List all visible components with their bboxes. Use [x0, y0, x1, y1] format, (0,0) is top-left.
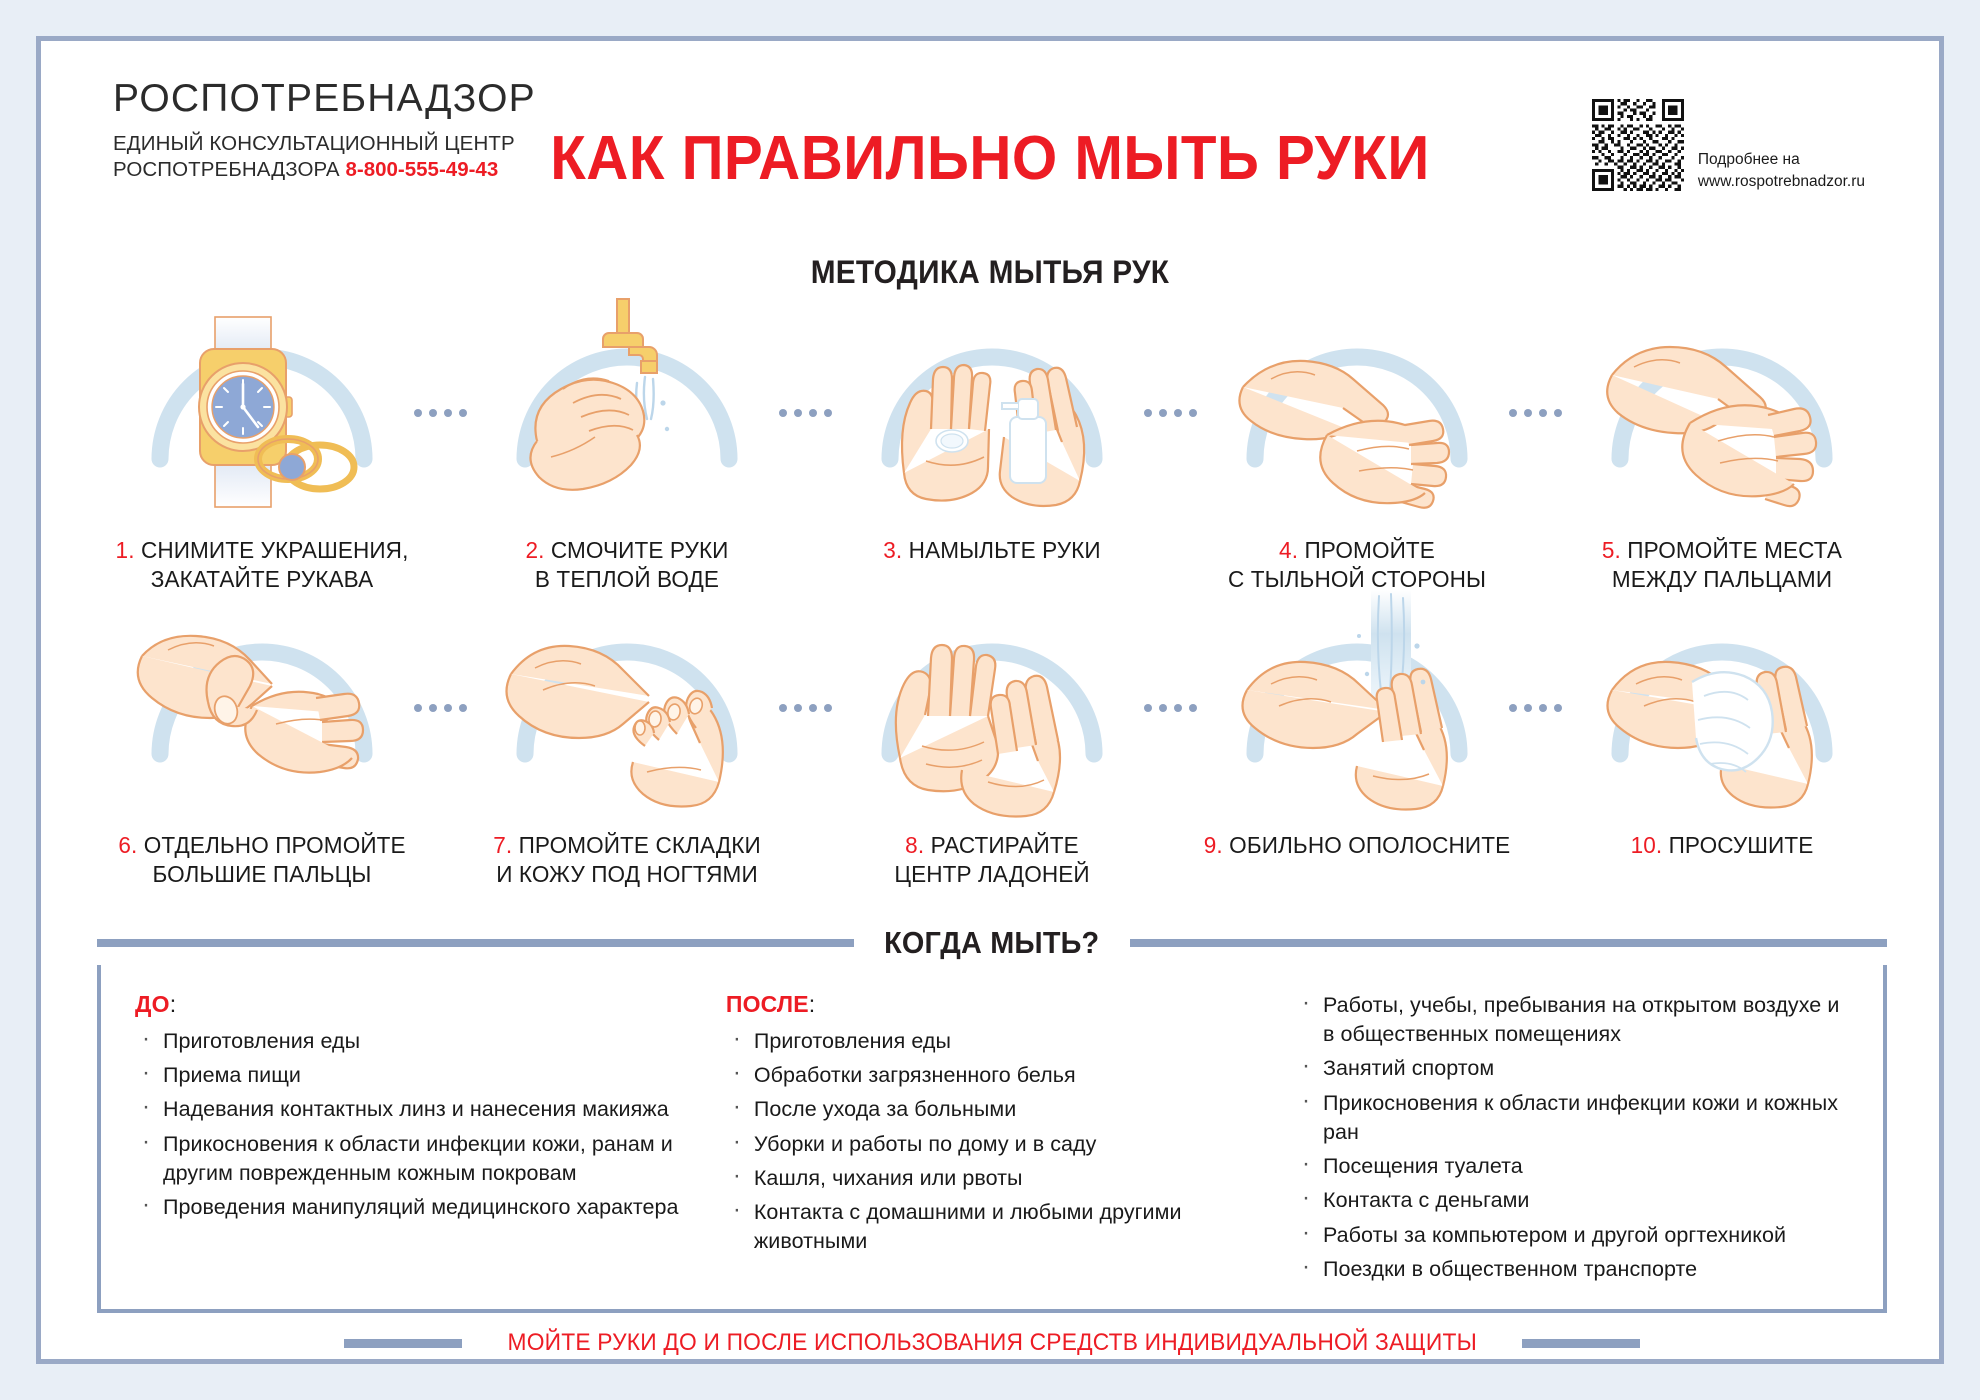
list-item: Прикосновения к области инфекции кожи, р…: [135, 1130, 700, 1188]
hands-under-tap-icon: [477, 291, 777, 526]
step-2-illustration: [462, 291, 792, 526]
step-2-number: 2.: [525, 537, 544, 563]
when-to-wash-section: КОГДА МЫТЬ? ДО: Приготовления еды Приема…: [97, 921, 1887, 1360]
before-column: ДО: Приготовления еды Приема пищи Надева…: [135, 991, 700, 1289]
after-column-continued: Работы, учебы, пребывания на открытом во…: [1295, 991, 1849, 1289]
step-connector-dots-1: [414, 409, 467, 417]
list-item: Поездки в общественном транспорте: [1295, 1255, 1849, 1284]
step-7-caption: 7. ПРОМОЙТЕ СКЛАДКИ И КОЖУ ПОД НОГТЯМИ: [469, 831, 786, 888]
step-6-line2: БОЛЬШИЕ ПАЛЬЦЫ: [152, 861, 371, 887]
step-2[interactable]: 2. СМОЧИТЕ РУКИ В ТЕПЛОЙ ВОДЕ: [462, 291, 792, 593]
header-rule-right: [1130, 939, 1887, 947]
step-3[interactable]: 3. НАМЫЛЬТЕ РУКИ: [827, 291, 1157, 593]
qr-code-icon[interactable]: [1592, 99, 1684, 191]
step-1-number: 1.: [116, 537, 135, 563]
step-9-illustration: [1192, 586, 1522, 821]
list-item: Работы за компьютером и другой оргтехник…: [1295, 1221, 1849, 1250]
footer-rule-left: [344, 1339, 462, 1348]
step-6-line1: ОТДЕЛЬНО ПРОМОЙТЕ: [144, 832, 406, 858]
step-9-number: 9.: [1204, 832, 1223, 858]
step-7[interactable]: 7. ПРОМОЙТЕ СКЛАДКИ И КОЖУ ПОД НОГТЯМИ: [462, 586, 792, 888]
list-item: Приготовления еды: [726, 1027, 1269, 1056]
step-4-caption: 4. ПРОМОЙТЕ С ТЫЛЬНОЙ СТОРОНЫ: [1199, 536, 1516, 593]
list-item: Надевания контактных линз и нанесения ма…: [135, 1095, 700, 1124]
before-label: ДО: [135, 991, 170, 1017]
after-label: ПОСЛЕ: [726, 991, 809, 1017]
step-2-line1: СМОЧИТЕ РУКИ: [551, 537, 729, 563]
step-4-line1: ПРОМОЙТЕ: [1304, 537, 1434, 563]
step-10-number: 10.: [1631, 832, 1663, 858]
before-list: Приготовления еды Приема пищи Надевания …: [135, 1027, 700, 1222]
step-connector-dots-7: [779, 704, 832, 712]
step-3-line1: НАМЫЛЬТЕ РУКИ: [909, 537, 1101, 563]
step-9[interactable]: 9. ОБИЛЬНО ОПОЛОСНИТЕ: [1192, 586, 1522, 888]
step-9-line1: ОБИЛЬНО ОПОЛОСНИТЕ: [1229, 832, 1510, 858]
steps-row-2: 6. ОТДЕЛЬНО ПРОМОЙТЕ БОЛЬШИЕ ПАЛЬЦЫ: [97, 586, 1887, 888]
step-10-line1: ПРОСУШИТЕ: [1669, 832, 1814, 858]
step-10[interactable]: 10. ПРОСУШИТЕ: [1557, 586, 1887, 888]
step-connector-dots-9: [1509, 704, 1562, 712]
list-item: Приема пищи: [135, 1061, 700, 1090]
step-10-caption: 10. ПРОСУШИТЕ: [1564, 831, 1881, 860]
brand-name: РОСПОТРЕБНАДЗОР: [113, 79, 536, 118]
step-4-illustration: [1192, 291, 1522, 526]
list-item: Контакта с домашними и любыми другими жи…: [726, 1198, 1269, 1256]
list-item: После ухода за больными: [726, 1095, 1269, 1124]
qr-caption-line1: Подробнее на: [1698, 149, 1865, 171]
thumb-rub-icon: [112, 586, 412, 821]
step-1-illustration: [97, 291, 427, 526]
soap-dispenser-icon: [842, 291, 1142, 526]
list-item: Обработки загрязненного белья: [726, 1061, 1269, 1090]
step-5-number: 5.: [1602, 537, 1621, 563]
list-item: Работы, учебы, пребывания на открытом во…: [1295, 991, 1849, 1049]
methodology-section-title: МЕТОДИКА МЫТЬЯ РУК: [107, 254, 1872, 291]
qr-caption: Подробнее на www.rospotrebnadzor.ru: [1698, 99, 1865, 194]
when-to-wash-box: ДО: Приготовления еды Приема пищи Надева…: [97, 965, 1887, 1313]
step-connector-dots-4: [1509, 409, 1562, 417]
step-1-line1: СНИМИТЕ УКРАШЕНИЯ,: [141, 537, 408, 563]
step-5[interactable]: 5. ПРОМОЙТЕ МЕСТА МЕЖДУ ПАЛЬЦАМИ: [1557, 291, 1887, 593]
list-item: Посещения туалета: [1295, 1152, 1849, 1181]
step-connector-dots-3: [1144, 409, 1197, 417]
step-4-number: 4.: [1279, 537, 1298, 563]
list-item: Проведения манипуляций медицинского хара…: [135, 1193, 700, 1222]
step-7-number: 7.: [493, 832, 512, 858]
step-1[interactable]: 1. СНИМИТЕ УКРАШЕНИЯ, ЗАКАТАЙТЕ РУКАВА: [97, 291, 427, 593]
step-5-illustration: [1557, 291, 1887, 526]
interlaced-fingers-icon: [1572, 291, 1872, 526]
step-connector-dots-2: [779, 409, 832, 417]
footer-rule-right: [1522, 1339, 1640, 1348]
step-8-illustration: [827, 586, 1157, 821]
step-3-illustration: [827, 291, 1157, 526]
header-rule-left: [97, 939, 854, 947]
when-to-wash-title: КОГДА МЫТЬ?: [884, 925, 1099, 961]
list-item: Прикосновения к области инфекции кожи и …: [1295, 1089, 1849, 1147]
after-column-title: ПОСЛЕ:: [726, 991, 1269, 1018]
step-connector-dots-8: [1144, 704, 1197, 712]
list-item: Уборки и работы по дому и в саду: [726, 1130, 1269, 1159]
poster-footer: МОЙТЕ РУКИ ДО И ПОСЛЕ ИСПОЛЬЗОВАНИЯ СРЕД…: [97, 1326, 1887, 1360]
watch-and-rings-icon: [112, 291, 412, 526]
rinse-under-water-icon: [1207, 586, 1507, 821]
step-8-line2: ЦЕНТР ЛАДОНЕЙ: [894, 861, 1089, 887]
list-item: Занятий спортом: [1295, 1054, 1849, 1083]
step-8-line1: РАСТИРАЙТЕ: [931, 832, 1079, 858]
step-3-number: 3.: [883, 537, 902, 563]
step-5-caption: 5. ПРОМОЙТЕ МЕСТА МЕЖДУ ПАЛЬЦАМИ: [1564, 536, 1881, 593]
before-column-title: ДО:: [135, 991, 700, 1018]
qr-block[interactable]: Подробнее на www.rospotrebnadzor.ru: [1592, 99, 1865, 194]
step-8-caption: 8. РАСТИРАЙТЕ ЦЕНТР ЛАДОНЕЙ: [834, 831, 1151, 888]
list-item: Контакта с деньгами: [1295, 1186, 1849, 1215]
footer-message: МОЙТЕ РУКИ ДО И ПОСЛЕ ИСПОЛЬЗОВАНИЯ СРЕД…: [507, 1329, 1476, 1357]
poster-canvas: РОСПОТРЕБНАДЗОР ЕДИНЫЙ КОНСУЛЬТАЦИОННЫЙ …: [36, 36, 1944, 1364]
after-list-continued: Работы, учебы, пребывания на открытом во…: [1295, 991, 1849, 1284]
step-7-line1: ПРОМОЙТЕ СКЛАДКИ: [519, 832, 761, 858]
dry-with-towel-icon: [1572, 586, 1872, 821]
back-of-hand-icon: [1207, 291, 1507, 526]
step-2-caption: 2. СМОЧИТЕ РУКИ В ТЕПЛОЙ ВОДЕ: [469, 536, 786, 593]
step-connector-dots-6: [414, 704, 467, 712]
step-6[interactable]: 6. ОТДЕЛЬНО ПРОМОЙТЕ БОЛЬШИЕ ПАЛЬЦЫ: [97, 586, 427, 888]
list-item: Приготовления еды: [135, 1027, 700, 1056]
step-6-number: 6.: [118, 832, 137, 858]
step-9-caption: 9. ОБИЛЬНО ОПОЛОСНИТЕ: [1199, 831, 1516, 860]
step-1-caption: 1. СНИМИТЕ УКРАШЕНИЯ, ЗАКАТАЙТЕ РУКАВА: [104, 536, 421, 593]
step-5-line1: ПРОМОЙТЕ МЕСТА: [1627, 537, 1842, 563]
step-7-illustration: [462, 586, 792, 821]
qr-website-url[interactable]: www.rospotrebnadzor.ru: [1698, 171, 1865, 193]
step-3-caption: 3. НАМЫЛЬТЕ РУКИ: [834, 536, 1151, 565]
steps-row-1: 1. СНИМИТЕ УКРАШЕНИЯ, ЗАКАТАЙТЕ РУКАВА: [97, 291, 1887, 593]
step-6-illustration: [97, 586, 427, 821]
step-4[interactable]: 4. ПРОМОЙТЕ С ТЫЛЬНОЙ СТОРОНЫ: [1192, 291, 1522, 593]
step-6-caption: 6. ОТДЕЛЬНО ПРОМОЙТЕ БОЛЬШИЕ ПАЛЬЦЫ: [104, 831, 421, 888]
step-10-illustration: [1557, 586, 1887, 821]
after-column: ПОСЛЕ: Приготовления еды Обработки загря…: [726, 991, 1269, 1289]
step-8-number: 8.: [905, 832, 924, 858]
after-list: Приготовления еды Обработки загрязненног…: [726, 1027, 1269, 1257]
nails-in-palm-icon: [477, 586, 777, 821]
step-8[interactable]: 8. РАСТИРАЙТЕ ЦЕНТР ЛАДОНЕЙ: [827, 586, 1157, 888]
poster-header: РОСПОТРЕБНАДЗОР ЕДИНЫЙ КОНСУЛЬТАЦИОННЫЙ …: [41, 41, 1939, 211]
step-7-line2: И КОЖУ ПОД НОГТЯМИ: [496, 861, 758, 887]
list-item: Кашля, чихания или рвоты: [726, 1164, 1269, 1193]
palm-center-rub-icon: [842, 586, 1142, 821]
when-to-wash-header: КОГДА МЫТЬ?: [97, 921, 1887, 965]
